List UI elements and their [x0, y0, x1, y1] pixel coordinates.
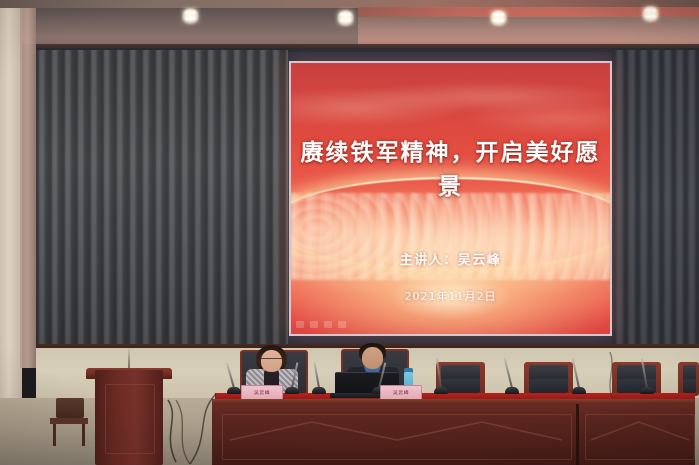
- placard-text: 吴云峰: [254, 389, 270, 395]
- spotlight-2-icon: [337, 10, 354, 27]
- face: [362, 347, 383, 369]
- empty-chair-4[interactable]: [678, 362, 699, 396]
- placard-text: 吴云峰: [393, 389, 409, 395]
- slide-title: 赓续铁军精神，开启美好愿景: [291, 133, 610, 201]
- chair-leg-right: [82, 424, 85, 446]
- table-chevron-inlay-right: [585, 414, 695, 458]
- wooden-side-chair[interactable]: [48, 398, 90, 446]
- stage-curtain-left: [36, 50, 288, 368]
- podium-front-panel: [105, 384, 155, 454]
- microphone-5[interactable]: [434, 366, 448, 394]
- microphone-6[interactable]: [505, 366, 519, 394]
- floor-cable-table: [176, 392, 236, 465]
- mic-base: [505, 387, 519, 394]
- microphone-8[interactable]: [640, 366, 654, 394]
- name-placard-man: 吴云峰: [380, 385, 422, 400]
- projection-screen-frame: 赓续铁军精神，开启美好愿景 主讲人：吴云峰 2021年11月2日: [289, 61, 612, 336]
- presenter-toolbar[interactable]: [296, 321, 346, 328]
- microphone-2[interactable]: [285, 368, 299, 394]
- pointer-icon[interactable]: [310, 321, 318, 328]
- microphone-1[interactable]: [227, 368, 241, 394]
- mic-base: [640, 387, 654, 394]
- projection-screen[interactable]: 赓续铁军精神，开启美好愿景 主讲人：吴云峰 2021年11月2日: [291, 63, 610, 334]
- spotlight-1-icon: [182, 8, 199, 25]
- wall-pillar-left: [0, 8, 22, 428]
- chair-leg-left: [53, 424, 56, 446]
- conference-hall-photo: 赓续铁军精神，开启美好愿景 主讲人：吴云峰 2021年11月2日: [0, 0, 699, 465]
- pen-icon[interactable]: [296, 321, 304, 328]
- spotlight-4-icon: [642, 6, 659, 23]
- table-chevron-inlay-left: [222, 414, 570, 458]
- spotlight-3-icon: [490, 10, 507, 27]
- chair-back: [56, 398, 84, 418]
- mic-base: [434, 387, 448, 394]
- mic-base: [572, 387, 586, 394]
- slide-presenter-label: 主讲人：吴云峰: [291, 249, 610, 268]
- slide-date: 2021年11月2日: [291, 288, 610, 304]
- chair-cushion: [529, 365, 568, 393]
- table-seam: [576, 404, 579, 465]
- glasses-icon: [261, 358, 282, 363]
- chair-cushion: [683, 365, 696, 393]
- more-icon[interactable]: [338, 321, 346, 328]
- slides-icon[interactable]: [324, 321, 332, 328]
- microphone-3[interactable]: [312, 368, 326, 394]
- table-edge: [212, 399, 695, 404]
- microphone-7[interactable]: [572, 366, 586, 394]
- mic-base: [285, 387, 299, 394]
- mic-base: [312, 387, 326, 394]
- wall-cable-right: [596, 352, 636, 398]
- empty-chair-2[interactable]: [524, 362, 573, 396]
- wall-pillar-left-inner: [20, 8, 36, 368]
- stage-curtain-right: [612, 50, 699, 350]
